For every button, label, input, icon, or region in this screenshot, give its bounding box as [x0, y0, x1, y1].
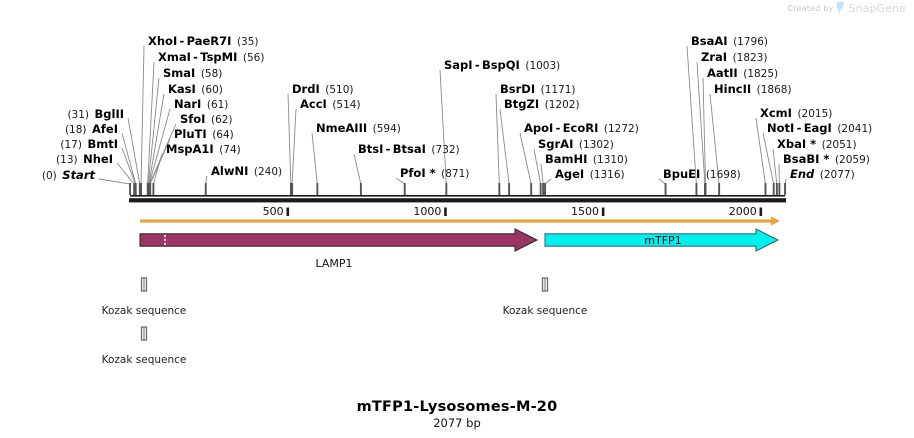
enzyme-name: NarI	[174, 97, 201, 111]
cut-site-mark	[140, 183, 142, 195]
enzyme-name: BamHI	[545, 152, 587, 166]
ruler-tick-label: 500	[226, 205, 284, 218]
enzyme-position: (2077)	[820, 169, 855, 181]
leader-line	[153, 154, 162, 184]
restriction-site-label: ZraI (1823)	[701, 52, 767, 64]
enzyme-position: (62)	[211, 114, 233, 126]
snapgene-watermark: Created by SnapGene	[787, 2, 906, 15]
enzyme-position: (1868)	[757, 84, 792, 96]
cut-site-mark	[149, 183, 151, 195]
enzyme-name-secondary: PaeR7I	[187, 34, 232, 48]
ruler-tick	[760, 208, 763, 217]
enzyme-name-secondary: BspQI	[482, 58, 520, 72]
enzyme-position: (0)	[42, 170, 57, 182]
enzyme-name-separator: -	[191, 50, 200, 64]
enzyme-name: XhoI	[148, 34, 177, 48]
restriction-site-label: AgeI (1316)	[555, 169, 625, 181]
cut-site-mark	[316, 183, 318, 195]
leader-line	[500, 109, 509, 184]
enzyme-name: XbaI *	[777, 137, 816, 151]
promoter-line	[140, 219, 772, 222]
enzyme-position: (58)	[201, 68, 223, 80]
enzyme-position: (1825)	[743, 68, 778, 80]
restriction-site-label: AatII (1825)	[707, 68, 778, 80]
ruler-tick	[286, 208, 289, 217]
leader-line	[148, 62, 154, 184]
enzyme-position: (13)	[56, 154, 78, 166]
restriction-site-label: XcmI (2015)	[760, 108, 832, 120]
enzyme-name-separator: -	[553, 121, 562, 135]
enzyme-name: AccI	[300, 97, 327, 111]
restriction-site-label: HincII (1868)	[714, 84, 792, 96]
kozak-label: Kozak sequence	[465, 305, 625, 317]
kozak-label: Kozak sequence	[64, 354, 224, 366]
enzyme-position: (35)	[237, 36, 259, 48]
restriction-site-label: SapI - BspQI (1003)	[444, 60, 560, 72]
enzyme-position: (1316)	[590, 169, 625, 181]
enzyme-name: KasI	[168, 82, 196, 96]
enzyme-position: (64)	[212, 129, 234, 141]
restriction-site-label: NmeAIII (594)	[316, 123, 401, 135]
enzyme-position: (1698)	[706, 169, 741, 181]
restriction-site-label: PluTI (64)	[174, 129, 234, 141]
cut-site-mark	[404, 183, 406, 195]
leader-line	[773, 149, 777, 184]
enzyme-name: BtgZI	[504, 97, 539, 111]
restriction-site-label: SmaI (58)	[163, 68, 222, 80]
leader-line	[99, 179, 130, 184]
restriction-site-label: BsaAI (1796)	[691, 36, 768, 48]
enzyme-position: (56)	[243, 52, 265, 64]
enzyme-position: (60)	[201, 84, 223, 96]
leader-line	[354, 154, 361, 184]
cut-site-mark	[718, 183, 720, 195]
leader-line	[128, 118, 140, 184]
restriction-site-label: (13) NheI	[0, 154, 113, 166]
cut-site-mark	[695, 183, 697, 195]
enzyme-name: BmtI	[87, 137, 118, 151]
restriction-site-label: XhoI - PaeR7I (35)	[148, 36, 259, 48]
restriction-site-label: End (2077)	[790, 169, 855, 181]
cut-site-mark	[508, 183, 510, 195]
enzyme-name: XmaI	[158, 50, 191, 64]
backbone-thick-bar	[129, 198, 786, 202]
enzyme-position: (31)	[67, 109, 89, 121]
cut-site-mark	[530, 183, 532, 195]
restriction-site-label: SfoI (62)	[180, 114, 233, 126]
enzyme-name-separator: -	[383, 142, 392, 156]
enzyme-name: AfeI	[92, 122, 118, 136]
cut-site-mark	[129, 183, 131, 195]
enzyme-position: (1003)	[525, 60, 560, 72]
leader-line	[534, 149, 541, 184]
cut-site-mark	[544, 183, 546, 195]
leader-line	[288, 94, 291, 184]
enzyme-position: (2015)	[797, 108, 832, 120]
cut-site-mark	[152, 183, 154, 195]
enzyme-name: PfoI *	[400, 166, 436, 180]
enzyme-name-separator: -	[473, 58, 482, 72]
enzyme-name: BsaBI *	[783, 152, 829, 166]
feature-arrow	[140, 229, 537, 251]
cut-site-mark	[765, 183, 767, 195]
restriction-site-label: ApoI - EcoRI (1272)	[524, 123, 639, 135]
cut-site-mark	[205, 183, 207, 195]
cut-site-mark	[778, 183, 780, 195]
restriction-site-label: NarI (61)	[174, 99, 228, 111]
enzyme-position: (2041)	[837, 123, 872, 135]
cut-site-mark	[540, 183, 542, 195]
enzyme-name: BglII	[95, 107, 125, 121]
enzyme-name-secondary: EcoRI	[563, 121, 599, 135]
enzyme-name: SapI	[444, 58, 473, 72]
restriction-site-label: (17) BmtI	[0, 139, 118, 151]
cut-site-mark	[360, 183, 362, 195]
enzyme-name-secondary: EagI	[804, 121, 832, 135]
cut-site-mark	[784, 183, 786, 195]
restriction-site-label: AlwNI (240)	[211, 166, 282, 178]
enzyme-name: DrdI	[292, 82, 320, 96]
enzyme-position: (240)	[254, 166, 282, 178]
cut-site-mark	[542, 183, 544, 195]
enzyme-name: XcmI	[760, 106, 792, 120]
enzyme-position: (871)	[441, 168, 469, 180]
enzyme-name: HincII	[714, 82, 751, 96]
cut-site-mark	[773, 183, 775, 195]
leader-line	[687, 46, 696, 184]
restriction-site-label: KasI (60)	[168, 84, 223, 96]
restriction-site-label: BtgZI (1202)	[504, 99, 580, 111]
restriction-site-label: (31) BglII	[4, 109, 124, 121]
enzyme-name: AgeI	[555, 167, 584, 181]
watermark-created-by-label: Created by	[787, 4, 833, 13]
leader-line	[756, 118, 765, 184]
cut-site-mark	[776, 183, 778, 195]
enzyme-name: SmaI	[163, 66, 195, 80]
leader-line	[141, 46, 144, 184]
watermark-brand-label: SnapGene	[848, 2, 906, 15]
ruler-tick-label: 2000	[699, 205, 757, 218]
cut-site-mark	[498, 183, 500, 195]
ruler-tick	[444, 208, 447, 217]
leader-line	[122, 133, 136, 184]
enzyme-position: (510)	[325, 84, 353, 96]
feature-label: mTFP1	[603, 234, 723, 247]
leader-line	[496, 94, 499, 184]
enzyme-name: BsrDI	[500, 82, 535, 96]
enzyme-name: SfoI	[180, 112, 205, 126]
enzyme-position: (2059)	[835, 154, 870, 166]
ruler-tick	[602, 208, 605, 217]
restriction-site-label: (18) AfeI	[0, 124, 118, 136]
restriction-site-label: BamHI (1310)	[545, 154, 628, 166]
enzyme-name: AlwNI	[211, 164, 248, 178]
enzyme-name-separator: -	[177, 34, 186, 48]
restriction-site-label: (0) Start	[0, 170, 95, 182]
enzyme-position: (1302)	[579, 139, 614, 151]
enzyme-name: ZraI	[701, 50, 727, 64]
enzyme-name-separator: -	[794, 121, 803, 135]
cut-site-mark	[445, 183, 447, 195]
leader-line	[541, 164, 543, 184]
enzyme-name: BtsI	[358, 142, 383, 156]
leader-line	[206, 176, 207, 184]
snapgene-logo-icon	[836, 2, 845, 15]
restriction-site-label: BpuEI (1698)	[663, 169, 741, 181]
cut-site-mark	[665, 183, 667, 195]
kozak-label: Kozak sequence	[64, 305, 224, 317]
restriction-site-label: DrdI (510)	[292, 84, 353, 96]
leader-line	[292, 109, 296, 184]
enzyme-name: BpuEI	[663, 167, 700, 181]
restriction-site-label: SgrAI (1302)	[538, 139, 614, 151]
enzyme-name: SgrAI	[538, 137, 573, 151]
enzyme-name: NotI	[767, 121, 794, 135]
restriction-site-label: BsaBI * (2059)	[783, 154, 870, 166]
leader-line	[520, 133, 531, 184]
enzyme-name: PluTI	[174, 127, 207, 141]
page-title: mTFP1-Lysosomes-M-20	[0, 399, 914, 415]
leader-line	[122, 148, 135, 184]
restriction-site-label: PfoI * (871)	[400, 168, 469, 180]
restriction-site-label: NotI - EagI (2041)	[767, 123, 872, 135]
enzyme-name: Start	[62, 168, 95, 182]
enzyme-name-secondary: TspMI	[200, 50, 237, 64]
enzyme-name-secondary: BtsaI	[393, 142, 426, 156]
enzyme-position: (1272)	[604, 123, 639, 135]
feature-label: LAMP1	[274, 257, 394, 270]
cut-site-mark	[705, 183, 707, 195]
enzyme-position: (1823)	[733, 52, 768, 64]
cut-site-marks-group	[129, 183, 786, 195]
enzyme-position: (732)	[431, 144, 459, 156]
enzyme-name: MspA1I	[166, 142, 214, 156]
enzyme-position: (61)	[207, 99, 229, 111]
restriction-site-label: XbaI * (2051)	[777, 139, 857, 151]
enzyme-position: (514)	[332, 99, 360, 111]
restriction-site-label: XmaI - TspMI (56)	[158, 52, 264, 64]
enzyme-position: (594)	[373, 123, 401, 135]
enzyme-position: (17)	[60, 139, 82, 151]
page-subtitle-length: 2077 bp	[0, 416, 914, 430]
restriction-site-label: MspA1I (74)	[166, 144, 241, 156]
cut-site-mark	[135, 183, 137, 195]
ruler-tick-label: 1500	[541, 205, 599, 218]
ruler-tick-label: 1000	[383, 205, 441, 218]
enzyme-name: NheI	[83, 152, 113, 166]
enzyme-position: (1171)	[541, 84, 576, 96]
enzyme-position: (74)	[219, 144, 241, 156]
enzyme-position: (1796)	[733, 36, 768, 48]
restriction-site-label: AccI (514)	[300, 99, 361, 111]
enzyme-position: (1202)	[545, 99, 580, 111]
restriction-site-label: BtsI - BtsaI (732)	[358, 144, 460, 156]
restriction-site-label: BsrDI (1171)	[500, 84, 576, 96]
enzyme-name: AatII	[707, 66, 738, 80]
enzyme-position: (1310)	[593, 154, 628, 166]
enzyme-name: ApoI	[524, 121, 553, 135]
leader-line	[312, 133, 317, 184]
backbone-thin-line	[130, 195, 785, 197]
enzyme-name: NmeAIII	[316, 121, 367, 135]
enzyme-position: (2051)	[822, 139, 857, 151]
enzyme-name: BsaAI	[691, 34, 728, 48]
promoter-arrowhead	[771, 216, 780, 225]
cut-site-mark	[291, 183, 293, 195]
enzyme-position: (18)	[65, 124, 87, 136]
enzyme-name: End	[790, 167, 814, 181]
